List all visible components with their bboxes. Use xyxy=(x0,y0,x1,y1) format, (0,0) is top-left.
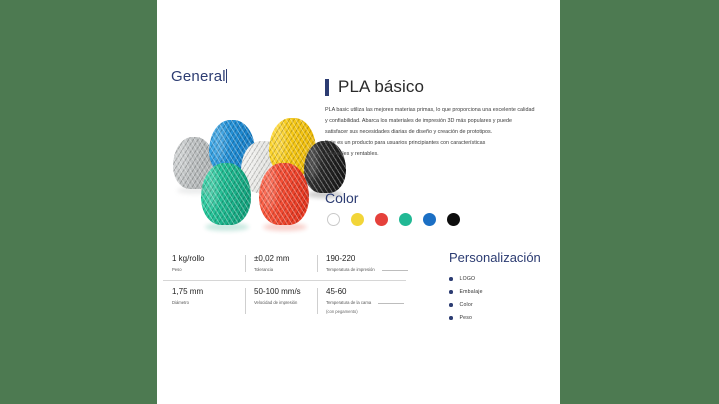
bullet-icon xyxy=(449,303,453,307)
list-item: Peso xyxy=(449,315,559,321)
list-item: Embalaje xyxy=(449,289,559,295)
customization-label: Peso xyxy=(460,315,473,321)
bullet-icon xyxy=(449,316,453,320)
spec-value: ±0,02 mm xyxy=(254,254,311,263)
spec-label-row: Temperatura de impresión xyxy=(326,267,400,273)
spec-cell-print-speed: 50-100 mm/s Velocidad de impresión xyxy=(245,287,317,315)
spec-value: 50-100 mm/s xyxy=(254,287,311,296)
spec-value: 190-220 xyxy=(326,254,400,263)
title-accent-bar xyxy=(325,79,329,96)
bullet-icon xyxy=(449,290,453,294)
customization-label: Color xyxy=(460,302,473,308)
vase-teal xyxy=(201,163,251,225)
color-swatch-red[interactable] xyxy=(375,213,388,226)
description-line: PLA basic utiliza las mejores materias p… xyxy=(325,105,555,116)
spec-label: Peso xyxy=(172,267,239,273)
vase-reflection xyxy=(205,223,249,231)
spec-value: 1 kg/rollo xyxy=(172,254,239,263)
table-row: 1,75 mm Diámetro 50-100 mm/s Velocidad d… xyxy=(163,280,406,322)
spec-label: Temperatura de la cama xyxy=(326,300,371,306)
vase-reflection xyxy=(177,187,213,194)
product-description: PLA basic utiliza las mejores materias p… xyxy=(325,105,555,160)
slide-canvas: General PLA básico PLA basic utiliz xyxy=(0,0,719,404)
pla-vases-photo xyxy=(165,105,350,230)
spec-label: Tolerancia xyxy=(254,267,311,273)
color-swatch-teal[interactable] xyxy=(399,213,412,226)
text-cursor xyxy=(226,69,227,83)
description-line: satisfacer sus necesidades diarias de di… xyxy=(325,127,555,138)
customization-heading: Personalización xyxy=(449,250,559,265)
color-swatch-row xyxy=(327,213,460,226)
spec-table: 1 kg/rollo Peso ±0,02 mm Tolerancia 190-… xyxy=(163,248,406,322)
page-title: General xyxy=(171,68,227,85)
bullet-icon xyxy=(449,277,453,281)
spec-value: 45-60 xyxy=(326,287,400,296)
customization-section: Personalización LOGO Embalaje Color Peso xyxy=(449,250,559,328)
list-item: Color xyxy=(449,302,559,308)
color-swatch-blue[interactable] xyxy=(423,213,436,226)
vase-reflection xyxy=(263,223,307,231)
table-row: 1 kg/rollo Peso ±0,02 mm Tolerancia 190-… xyxy=(163,248,406,280)
spec-value: 1,75 mm xyxy=(172,287,239,296)
vase-red xyxy=(259,163,309,225)
spec-rule xyxy=(382,270,408,271)
spec-cell-weight: 1 kg/rollo Peso xyxy=(163,254,245,273)
spec-cell-bed-temp: 45-60 Temperatura de la cama (con pegame… xyxy=(317,287,406,315)
description-line: y confiabilidad. Abarca los materiales d… xyxy=(325,116,555,127)
color-swatch-black[interactable] xyxy=(447,213,460,226)
spec-label: Temperatura de impresión xyxy=(326,267,375,273)
spec-cell-tolerance: ±0,02 mm Tolerancia xyxy=(245,254,317,273)
product-title-row: PLA básico xyxy=(325,77,424,97)
spec-label: Diámetro xyxy=(172,300,239,306)
list-item: LOGO xyxy=(449,276,559,282)
color-section-heading: Color xyxy=(325,190,358,206)
general-heading-text: General xyxy=(171,68,226,85)
slide-page: General PLA básico PLA basic utiliz xyxy=(157,0,560,404)
spec-rule xyxy=(378,303,404,304)
spec-label: Velocidad de impresión xyxy=(254,300,311,306)
customization-list: LOGO Embalaje Color Peso xyxy=(449,276,559,321)
color-swatch-white[interactable] xyxy=(327,213,340,226)
spec-cell-diameter: 1,75 mm Diámetro xyxy=(163,287,245,315)
customization-label: LOGO xyxy=(460,276,476,282)
spec-sublabel: (con pegamento) xyxy=(326,309,400,315)
description-line: Este es un producto para usuarios princi… xyxy=(325,138,555,149)
product-title: PLA básico xyxy=(338,77,424,97)
color-swatch-yellow[interactable] xyxy=(351,213,364,226)
spec-cell-print-temp: 190-220 Temperatura de impresión xyxy=(317,254,406,273)
customization-label: Embalaje xyxy=(460,289,483,295)
description-line: confiables y rentables. xyxy=(325,149,555,160)
spec-label-row: Temperatura de la cama xyxy=(326,300,400,306)
